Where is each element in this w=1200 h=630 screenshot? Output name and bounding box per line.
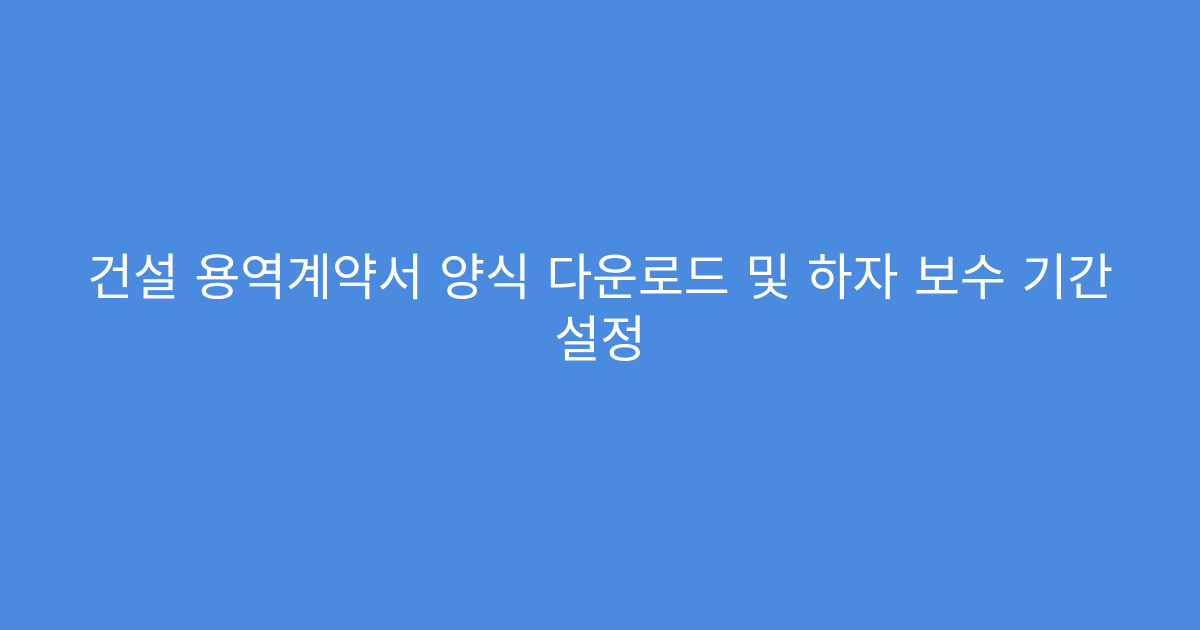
headline-block: 건설 용역계약서 양식 다운로드 및 하자 보수 기간 설정 [0,247,1200,371]
og-banner-card: 건설 용역계약서 양식 다운로드 및 하자 보수 기간 설정 [0,0,1200,630]
page-title: 건설 용역계약서 양식 다운로드 및 하자 보수 기간 설정 [70,247,1130,371]
